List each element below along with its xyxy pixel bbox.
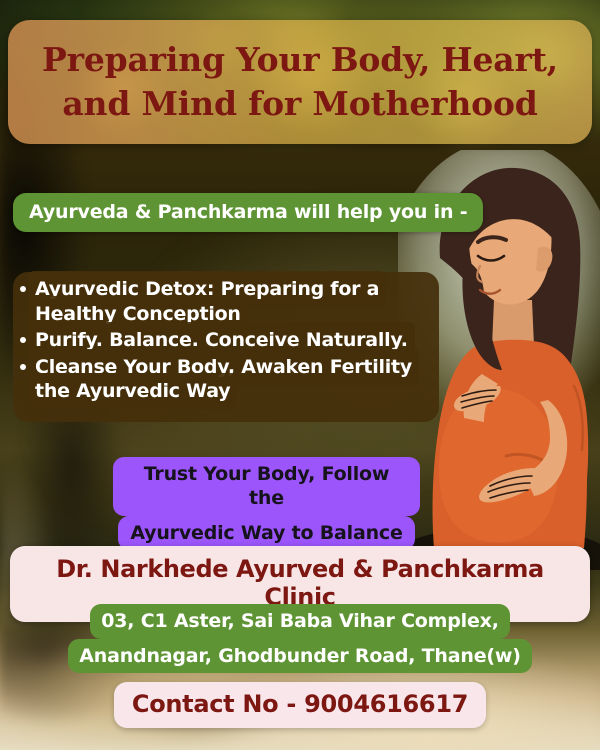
callout-line-1: Trust Your Body, Follow the: [113, 457, 420, 516]
bullet-dot-icon: [20, 286, 26, 292]
list-item: Purify. Balance. Conceive Naturally.: [13, 328, 439, 355]
benefits-list: Ayurvedic Detox: Preparing for a Healthy…: [13, 277, 439, 406]
contact-number-label: Contact No - 9004616617: [114, 682, 486, 728]
poster-canvas: Preparing Your Body, Heart, and Mind for…: [0, 0, 600, 750]
title-line-1: Preparing Your Body, Heart,: [24, 38, 576, 82]
callout-tagline: Trust Your Body, Follow the Ayurvedic Wa…: [113, 457, 420, 550]
poster-title-card: Preparing Your Body, Heart, and Mind for…: [8, 20, 592, 144]
list-item-label: Purify. Balance. Conceive Naturally.: [35, 329, 408, 351]
address-line-1: 03, C1 Aster, Sai Baba Vihar Complex,: [90, 604, 510, 639]
bullet-dot-icon: [20, 364, 26, 370]
list-item-label: Cleanse Your Body, Awaken Fertility the …: [35, 356, 412, 403]
page-title: Preparing Your Body, Heart, and Mind for…: [24, 38, 576, 126]
contact-row: Contact No - 9004616617: [0, 682, 600, 728]
title-line-2: and Mind for Motherhood: [24, 82, 576, 126]
list-item: Cleanse Your Body, Awaken Fertility the …: [13, 355, 439, 406]
subhead-badge: Ayurveda & Panchkarma will help you in -: [13, 193, 483, 232]
address-line-2: Anandnagar, Ghodbunder Road, Thane(w): [68, 639, 531, 674]
list-item: Ayurvedic Detox: Preparing for a Healthy…: [13, 277, 439, 328]
list-item-label: Ayurvedic Detox: Preparing for a Healthy…: [35, 278, 379, 325]
clinic-name-label: Dr. Narkhede Ayurved & Panchkarma Clinic: [56, 555, 544, 611]
callout-line-2: Ayurvedic Way to Balance: [118, 516, 414, 550]
bullet-dot-icon: [20, 337, 26, 343]
clinic-address: 03, C1 Aster, Sai Baba Vihar Complex, An…: [0, 604, 600, 673]
